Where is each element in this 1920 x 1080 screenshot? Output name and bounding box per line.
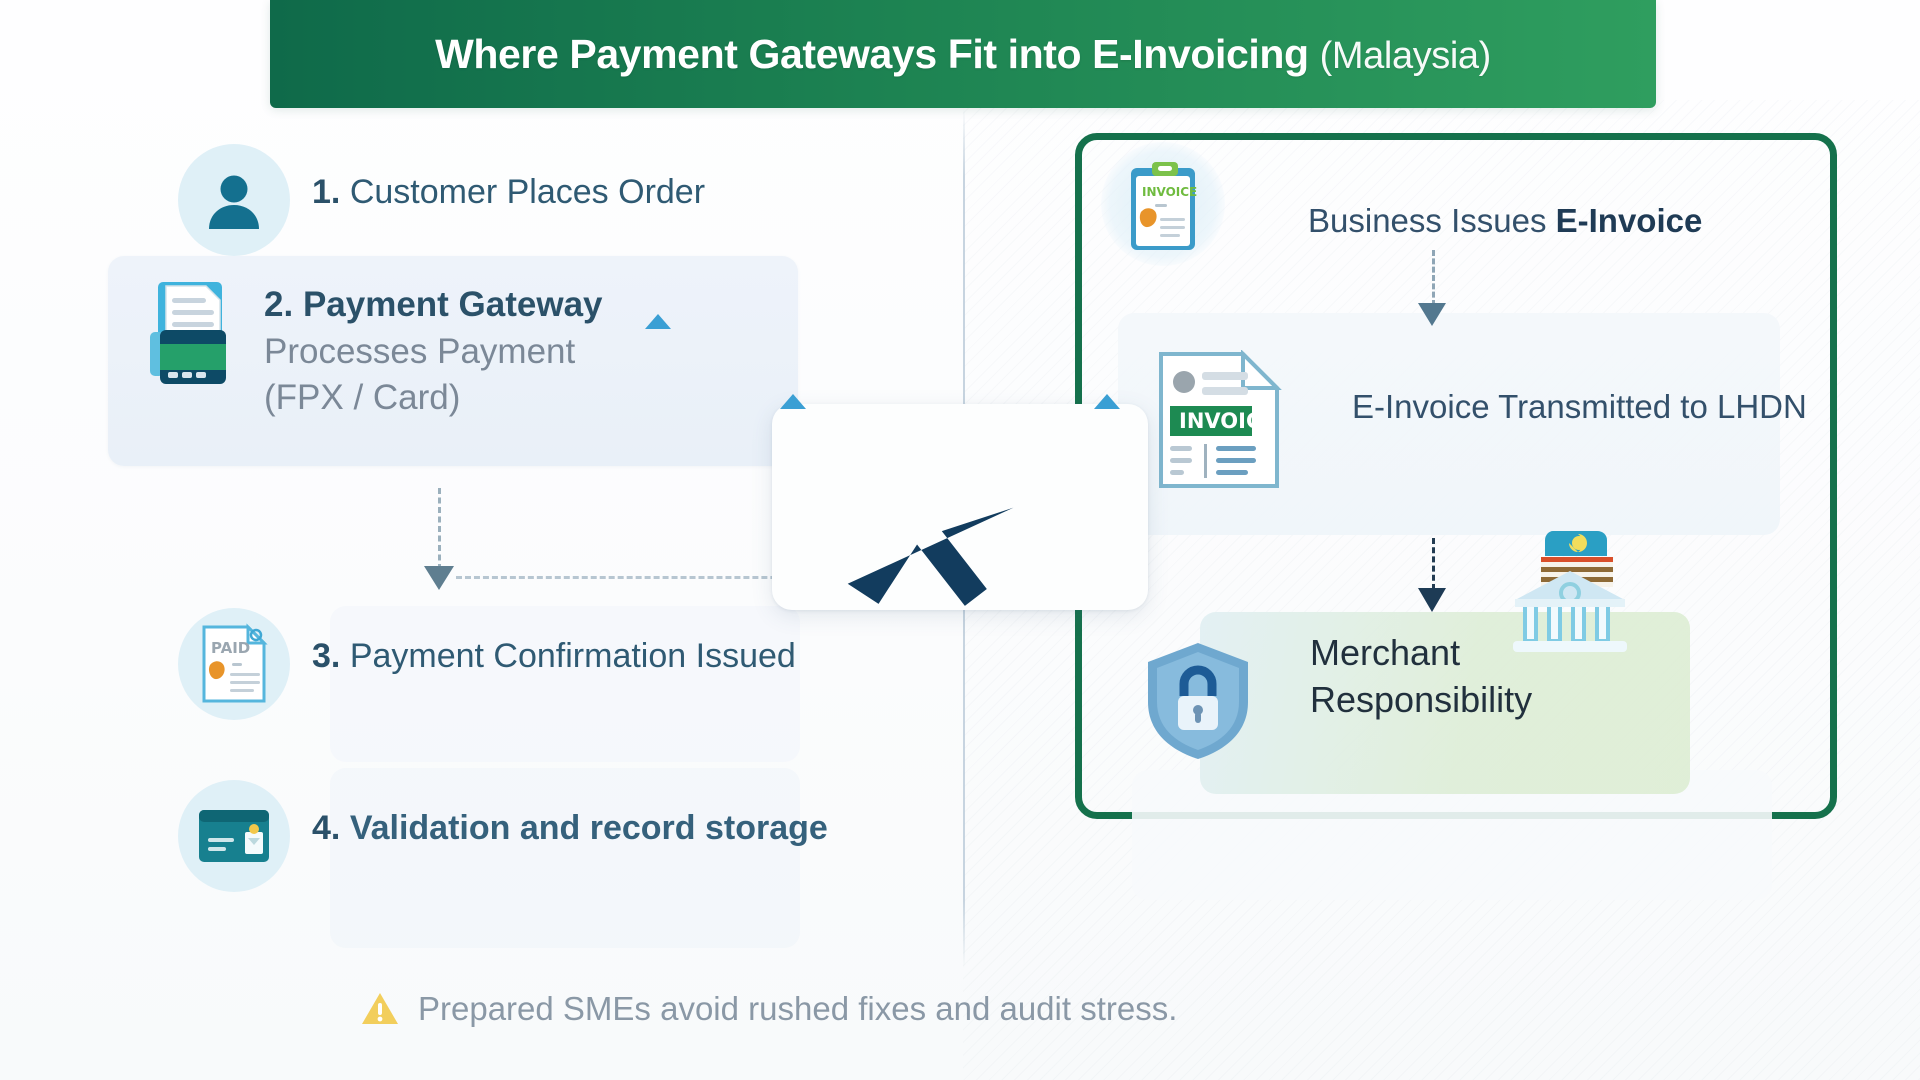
cursor-marker-right-icon xyxy=(1094,394,1120,409)
infographic-canvas: Where Payment Gateways Fit into E-Invoic… xyxy=(0,0,1920,1080)
page-title: Where Payment Gateways Fit into E-Invoic… xyxy=(435,31,1491,78)
payment-card-icon xyxy=(178,780,290,892)
title-region-text: (Malaysia) xyxy=(1320,35,1491,77)
flow-step-4-number: 4. xyxy=(312,809,340,847)
flow-step-2-line-3: (FPX / Card) xyxy=(264,375,603,422)
flow-step-2-text: 2. Payment Gateway Processes Payment (FP… xyxy=(264,278,603,422)
lock-shield-icon xyxy=(1142,640,1254,762)
svg-text:INVOICE: INVOICE xyxy=(1179,409,1276,433)
flow-step-2[interactable]: 2. Payment Gateway Processes Payment (FP… xyxy=(140,278,603,422)
svg-text:INVOICE: INVOICE xyxy=(1142,185,1197,199)
step-2-marker-left-icon xyxy=(645,314,671,329)
flow-step-2-title: Payment Gateway xyxy=(303,285,603,324)
flow-step-4-text: 4. Validation and record storage xyxy=(312,780,828,851)
flow-step-2-number: 2. xyxy=(264,285,293,324)
invoice-document-icon: INVOICE xyxy=(1156,350,1282,490)
connector-vertical-dashed xyxy=(438,488,441,570)
panel-arrowhead-1-icon xyxy=(1418,303,1446,326)
panel-row-1-text: Business Issues E-Invoice xyxy=(1308,200,1702,243)
panel-row-3: Merchant Responsibility xyxy=(1310,630,1560,724)
footer-text: Prepared SMEs avoid rushed fixes and aud… xyxy=(418,990,1177,1028)
flow-step-1-text: 1. Customer Places Order xyxy=(312,144,705,215)
panel-row-3-text: Merchant Responsibility xyxy=(1310,630,1560,724)
flow-step-4-label: Validation and record storage xyxy=(350,809,828,847)
flow-step-1-label: Customer Places Order xyxy=(350,173,705,211)
title-main-text: Where Payment Gateways Fit into E-Invoic… xyxy=(435,31,1309,77)
panel-row-2-text: E-Invoice Transmitted to LHDN xyxy=(1352,386,1807,429)
invoice-clipboard-icon: INVOICE xyxy=(1125,160,1207,256)
svg-text:PAID: PAID xyxy=(211,639,250,657)
panel-row-2: E-Invoice Transmitted to LHDN xyxy=(1352,386,1807,429)
panel-connector-1-dashed xyxy=(1432,250,1435,306)
panel-row-1: Business Issues E-Invoice xyxy=(1308,200,1702,243)
mouse-pointer-arrow-icon[interactable] xyxy=(845,440,1055,615)
flow-step-4[interactable]: 4. Validation and record storage xyxy=(178,780,828,892)
flow-step-2-line-1: 2. Payment Gateway xyxy=(264,282,603,329)
paid-document-icon: PAID xyxy=(178,608,290,720)
flow-step-3-text: 3. Payment Confirmation Issued xyxy=(312,608,796,679)
panel-connector-2-dashed xyxy=(1432,538,1435,590)
flow-step-3[interactable]: PAID 3. Payment Confirmation Issued xyxy=(178,608,796,720)
warning-triangle-icon xyxy=(360,991,400,1027)
user-avatar-icon xyxy=(178,144,290,256)
payment-terminal-icon xyxy=(140,278,252,390)
flow-step-1-number: 1. xyxy=(312,173,340,211)
flow-step-1[interactable]: 1. Customer Places Order xyxy=(178,144,705,256)
panel-row-1-normal: Business Issues xyxy=(1308,202,1556,239)
flow-step-3-label: Payment Confirmation Issued xyxy=(350,637,796,675)
panel-arrowhead-2-icon xyxy=(1418,588,1446,612)
cursor-marker-left-icon xyxy=(780,394,806,409)
connector-arrowhead-down-icon xyxy=(424,566,454,590)
footer-note: Prepared SMEs avoid rushed fixes and aud… xyxy=(360,990,1177,1028)
flow-step-3-number: 3. xyxy=(312,637,340,675)
panel-row-1-bold: E-Invoice xyxy=(1556,202,1703,239)
flow-step-2-line-2: Processes Payment xyxy=(264,329,603,376)
title-banner: Where Payment Gateways Fit into E-Invoic… xyxy=(270,0,1656,108)
